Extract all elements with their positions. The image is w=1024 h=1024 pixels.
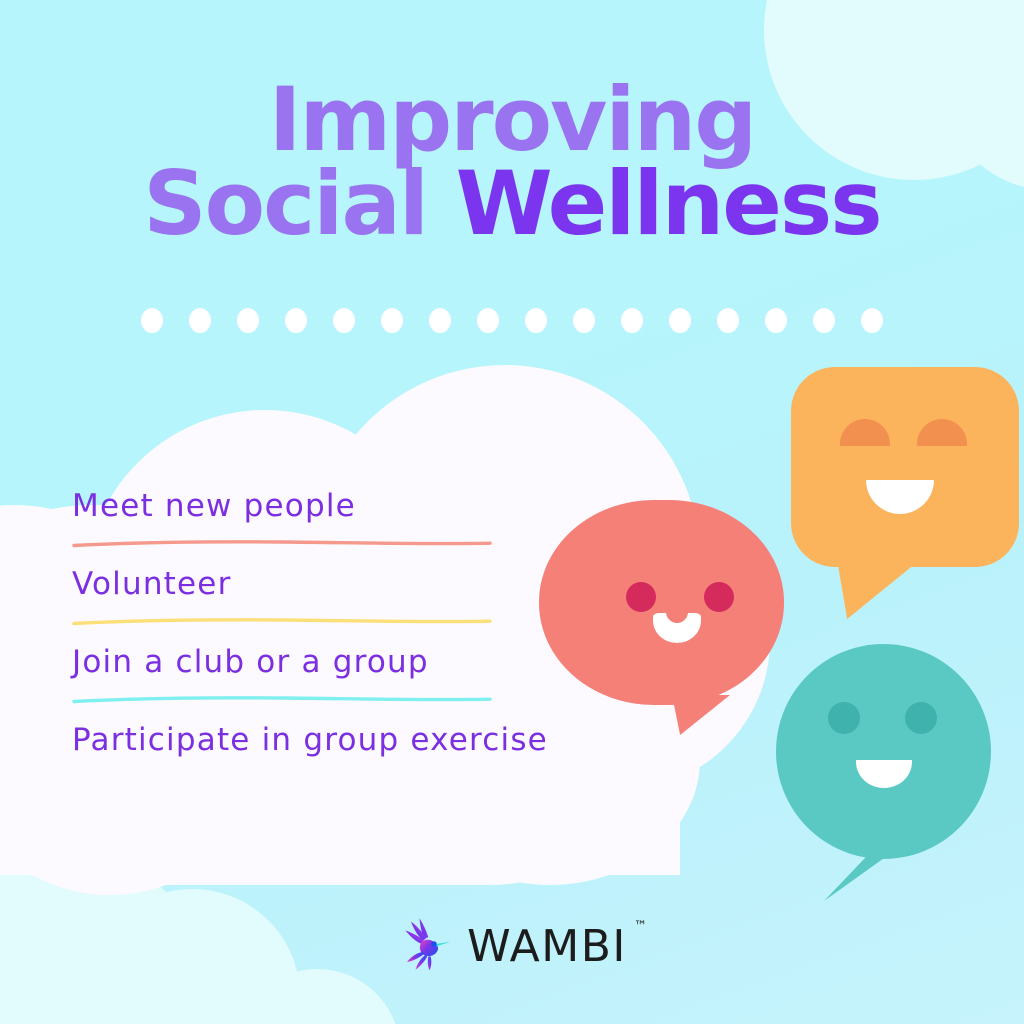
- divider-dot: [765, 308, 787, 333]
- trademark-symbol: ™: [634, 919, 647, 934]
- rule-salmon: [72, 536, 492, 550]
- orange-speech-bubble: [791, 367, 1019, 567]
- divider-dot: [285, 308, 307, 333]
- smile-mouth-icon: [856, 760, 912, 788]
- list-item: Participate in group exercise: [72, 720, 492, 760]
- list-item: Meet new people: [72, 486, 492, 526]
- list-item-label: Join a club or a group: [72, 644, 429, 680]
- bubble-body: [776, 644, 991, 859]
- title-word-wellness: Wellness: [456, 152, 881, 255]
- divider-dot: [621, 308, 643, 333]
- divider-dot: [333, 308, 355, 333]
- smile-mouth-icon: [653, 613, 701, 643]
- divider-dot: [573, 308, 595, 333]
- title-line-2: Social Wellness: [0, 162, 1024, 246]
- brand-logo: WAMBI™: [0, 916, 1024, 977]
- closed-eye-right-icon: [917, 419, 967, 446]
- list-item: Volunteer: [72, 564, 492, 604]
- eye-left-icon: [828, 702, 860, 734]
- poster-canvas: Improving Social Wellness Meet new peopl…: [0, 0, 1024, 1024]
- divider-dot: [669, 308, 691, 333]
- wordmark-text: WAMBI: [467, 921, 627, 972]
- list-item-label: Meet new people: [72, 488, 356, 524]
- divider-dot: [813, 308, 835, 333]
- divider-dot: [861, 308, 883, 333]
- rule-cyan: [72, 692, 492, 706]
- eye-right-icon: [905, 702, 937, 734]
- salmon-speech-bubble: [539, 500, 784, 705]
- tips-list: Meet new peopleVolunteerJoin a club or a…: [72, 486, 492, 760]
- list-item-label: Volunteer: [72, 566, 232, 602]
- divider-dot: [717, 308, 739, 333]
- bubble-body: [539, 500, 784, 705]
- divider-dot: [381, 308, 403, 333]
- teal-speech-bubble: [776, 644, 991, 859]
- title-line-1: Improving: [0, 78, 1024, 162]
- list-item-label: Participate in group exercise: [72, 722, 548, 758]
- divider-dot: [525, 308, 547, 333]
- eye-left-icon: [626, 582, 656, 612]
- divider-dot: [477, 308, 499, 333]
- list-item: Join a club or a group: [72, 642, 492, 682]
- divider-dot: [189, 308, 211, 333]
- wambi-wordmark: WAMBI™: [467, 921, 627, 972]
- smile-mouth-icon: [866, 480, 934, 514]
- divider-dot: [141, 308, 163, 333]
- title-word-social: Social: [143, 152, 455, 255]
- eye-right-icon: [704, 582, 734, 612]
- divider-dot: [237, 308, 259, 333]
- bubble-body: [791, 367, 1019, 567]
- page-title: Improving Social Wellness: [0, 78, 1024, 245]
- wambi-hummingbird-icon: [397, 916, 453, 977]
- rule-yellow: [72, 614, 492, 628]
- closed-eye-left-icon: [840, 419, 890, 446]
- bubble-tail: [836, 563, 916, 619]
- divider-dot: [429, 308, 451, 333]
- dotted-divider: [0, 308, 1024, 333]
